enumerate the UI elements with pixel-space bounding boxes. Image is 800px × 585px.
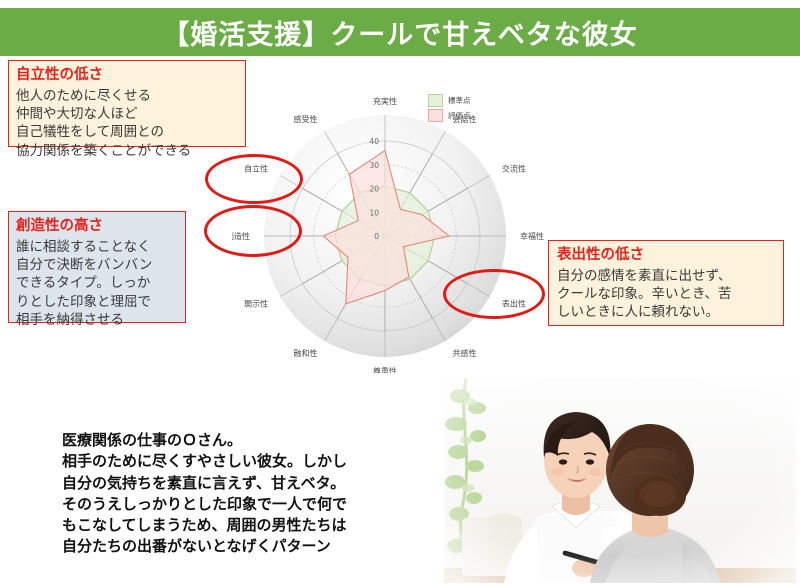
radar-axis-label: 充実性 xyxy=(373,96,397,106)
description-text: 医療関係の仕事のＯさん。 相手のために尽くすやさしい彼女。しかし 自分の気持ちを… xyxy=(62,430,442,558)
radar-axis-label: 感受性 xyxy=(294,114,318,124)
legend-swatch-standard-icon xyxy=(428,94,443,107)
radar-axis-label: 幸福性 xyxy=(520,231,544,241)
callout-creativity-body: 誰に相談することなく 自分で決断をバンバン できるタイプ。しっか りとした印象と… xyxy=(16,238,178,330)
annotation-ellipse-expression xyxy=(443,269,545,319)
chart-legend: 標準点 評価点 xyxy=(428,94,471,124)
radar-axis-label: 共感性 xyxy=(453,348,477,358)
svg-text:0: 0 xyxy=(374,232,379,241)
legend-label-standard: 標準点 xyxy=(448,95,471,106)
svg-text:10: 10 xyxy=(369,208,379,217)
callout-creativity-title: 創造性の高さ xyxy=(16,217,178,237)
page-title: 【婚活支援】クールで甘えベタな彼女 xyxy=(162,13,637,52)
legend-swatch-evaluation-icon xyxy=(428,109,443,122)
radar-axis-label: 尊重性 xyxy=(373,366,397,373)
consultation-photo-image xyxy=(444,378,796,583)
radar-axis-label: 交流性 xyxy=(502,164,526,174)
callout-independence: 自立性の低さ 他人のために尽くせる 仲間や大切な人ほど 自己犠牲をして周囲との … xyxy=(8,60,246,147)
page-header: 【婚活支援】クールで甘えベタな彼女 xyxy=(0,8,800,56)
callout-independence-body: 他人のために尽くせる 仲間や大切な人ほど 自己犠牲をして周囲との 協力関係を築く… xyxy=(16,87,238,160)
annotation-ellipse-independence xyxy=(205,154,303,204)
svg-text:20: 20 xyxy=(369,185,379,194)
consultation-photo xyxy=(444,378,796,583)
callout-creativity: 創造性の高さ 誰に相談することなく 自分で決断をバンバン できるタイプ。しっか … xyxy=(8,211,186,323)
callout-expression-body: 自分の感情を素直に出せず、 クールな印象。辛いとき、苦 しいときに人に頼れない。 xyxy=(557,267,775,322)
radar-axis-label: 融和性 xyxy=(294,348,318,358)
legend-item-standard: 標準点 xyxy=(428,94,471,107)
legend-label-evaluation: 評価点 xyxy=(448,110,471,121)
callout-expression-title: 表出性の低さ xyxy=(557,246,775,266)
callout-expression: 表出性の低さ 自分の感情を素直に出せず、 クールな印象。辛いとき、苦 しいときに… xyxy=(548,240,784,326)
svg-text:30: 30 xyxy=(369,161,379,170)
svg-text:40: 40 xyxy=(369,137,379,146)
radar-axis-label: 開示性 xyxy=(244,299,268,309)
callout-independence-title: 自立性の低さ xyxy=(16,66,238,86)
legend-item-evaluation: 評価点 xyxy=(428,109,471,122)
annotation-ellipse-creativity xyxy=(204,205,302,257)
